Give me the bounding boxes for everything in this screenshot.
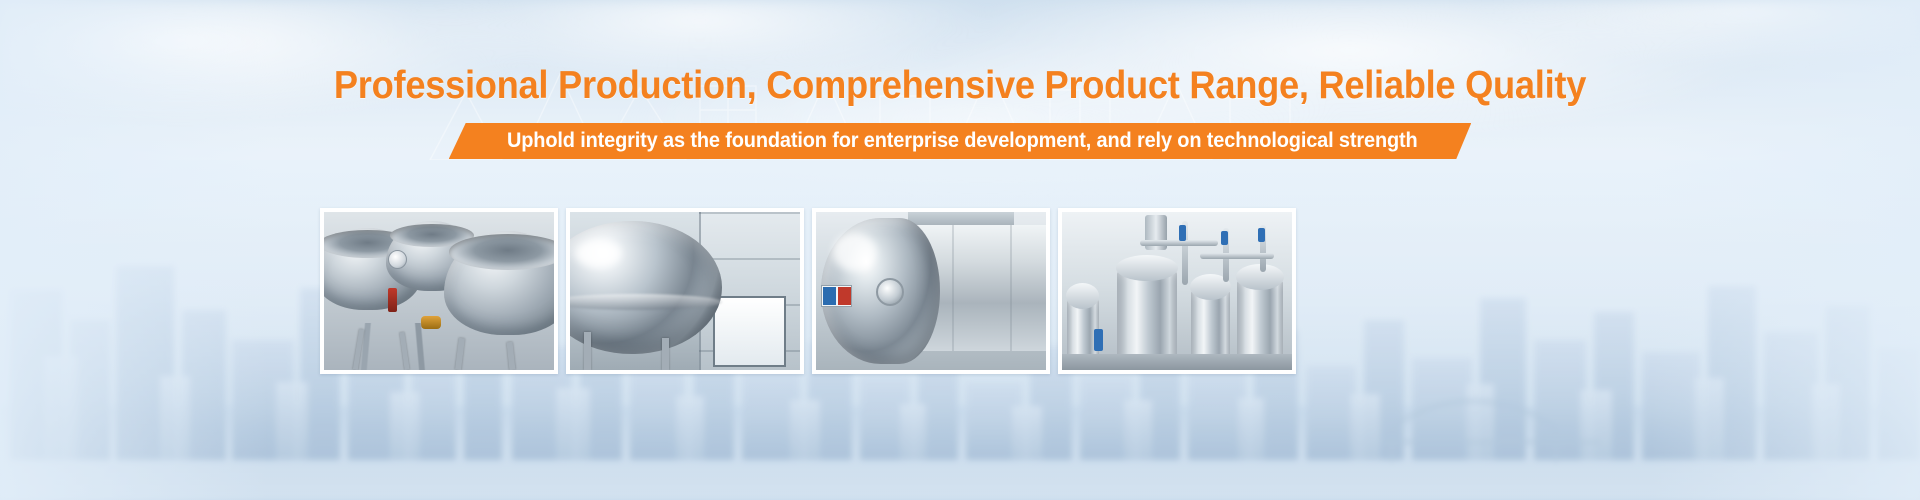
promo-banner: Professional Production, Comprehensive P… — [0, 0, 1920, 500]
control-panel-indicator — [821, 285, 853, 308]
banner-headline: Professional Production, Comprehensive P… — [67, 63, 1853, 109]
product-photo-strip — [320, 208, 1600, 374]
banner-subtitle: Uphold integrity as the foundation for e… — [507, 129, 1418, 153]
product-photo-jacketed-cooking-kettles[interactable] — [320, 208, 558, 374]
product-photo-extraction-concentration-tanks[interactable] — [1058, 208, 1296, 374]
subtitle-ribbon: Uphold integrity as the foundation for e… — [449, 123, 1472, 159]
subtitle-ribbon-wrapper: Uphold integrity as the foundation for e… — [0, 121, 1920, 161]
product-photo-spherical-tilting-vessel[interactable] — [566, 208, 804, 374]
product-photo-horizontal-retort-sterilizer[interactable] — [812, 208, 1050, 374]
